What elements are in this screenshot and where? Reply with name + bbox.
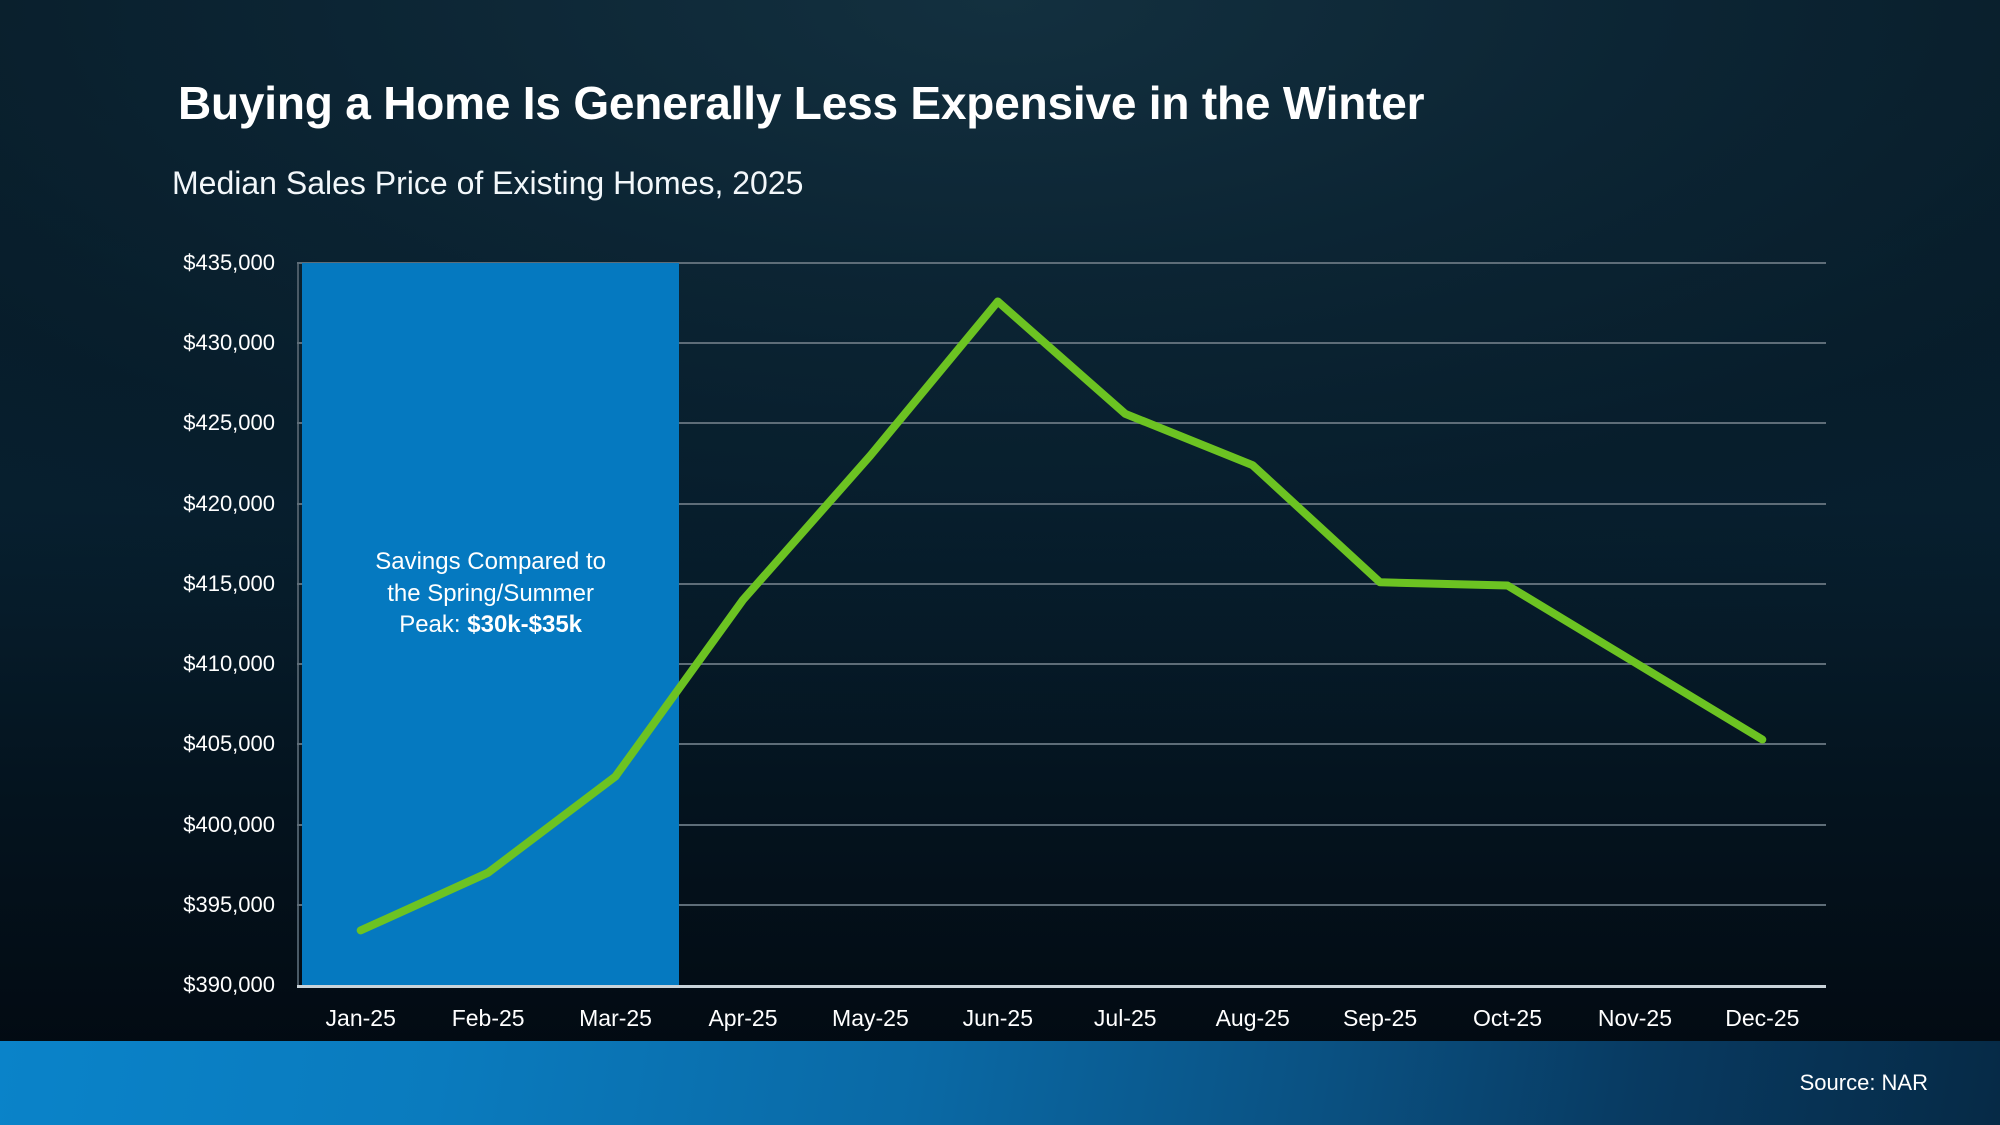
x-axis-tick-label: Nov-25	[1571, 998, 1698, 1042]
y-axis: $435,000$430,000$425,000$420,000$415,000…	[0, 263, 285, 985]
y-axis-tick-label: $420,000	[183, 491, 275, 517]
y-axis-tick-label: $390,000	[183, 972, 275, 998]
y-axis-tick-label: $425,000	[183, 410, 275, 436]
x-axis: Jan-25Feb-25Mar-25Apr-25May-25Jun-25Jul-…	[297, 998, 1826, 1042]
x-axis-line	[297, 985, 1826, 988]
plot-area: Savings Compared to the Spring/Summer Pe…	[297, 263, 1826, 985]
y-axis-tick-label: $400,000	[183, 812, 275, 838]
x-axis-tick-label: Jul-25	[1062, 998, 1189, 1042]
x-axis-tick-label: Sep-25	[1316, 998, 1443, 1042]
y-axis-tick-label: $395,000	[183, 892, 275, 918]
x-axis-tick-label: Mar-25	[552, 998, 679, 1042]
price-line-series	[297, 263, 1826, 985]
slide-background: Buying a Home Is Generally Less Expensiv…	[0, 0, 2000, 1125]
x-axis-tick-label: Jan-25	[297, 998, 424, 1042]
y-axis-tick-label: $415,000	[183, 571, 275, 597]
x-axis-tick-label: Apr-25	[679, 998, 806, 1042]
page-title: Buying a Home Is Generally Less Expensiv…	[178, 76, 1424, 130]
y-axis-tick-label: $430,000	[183, 330, 275, 356]
x-axis-tick-label: Oct-25	[1444, 998, 1571, 1042]
source-label: Source: NAR	[1800, 1070, 1928, 1096]
x-axis-tick-label: Jun-25	[934, 998, 1061, 1042]
y-axis-tick-label: $410,000	[183, 651, 275, 677]
y-axis-tick-label: $405,000	[183, 731, 275, 757]
footer-band: Source: NAR	[0, 1041, 2000, 1125]
chart-subtitle: Median Sales Price of Existing Homes, 20…	[172, 165, 803, 202]
x-axis-tick-label: Dec-25	[1699, 998, 1826, 1042]
x-axis-tick-label: Feb-25	[424, 998, 551, 1042]
x-axis-tick-label: Aug-25	[1189, 998, 1316, 1042]
x-axis-tick-label: May-25	[807, 998, 934, 1042]
y-axis-tick-label: $435,000	[183, 250, 275, 276]
